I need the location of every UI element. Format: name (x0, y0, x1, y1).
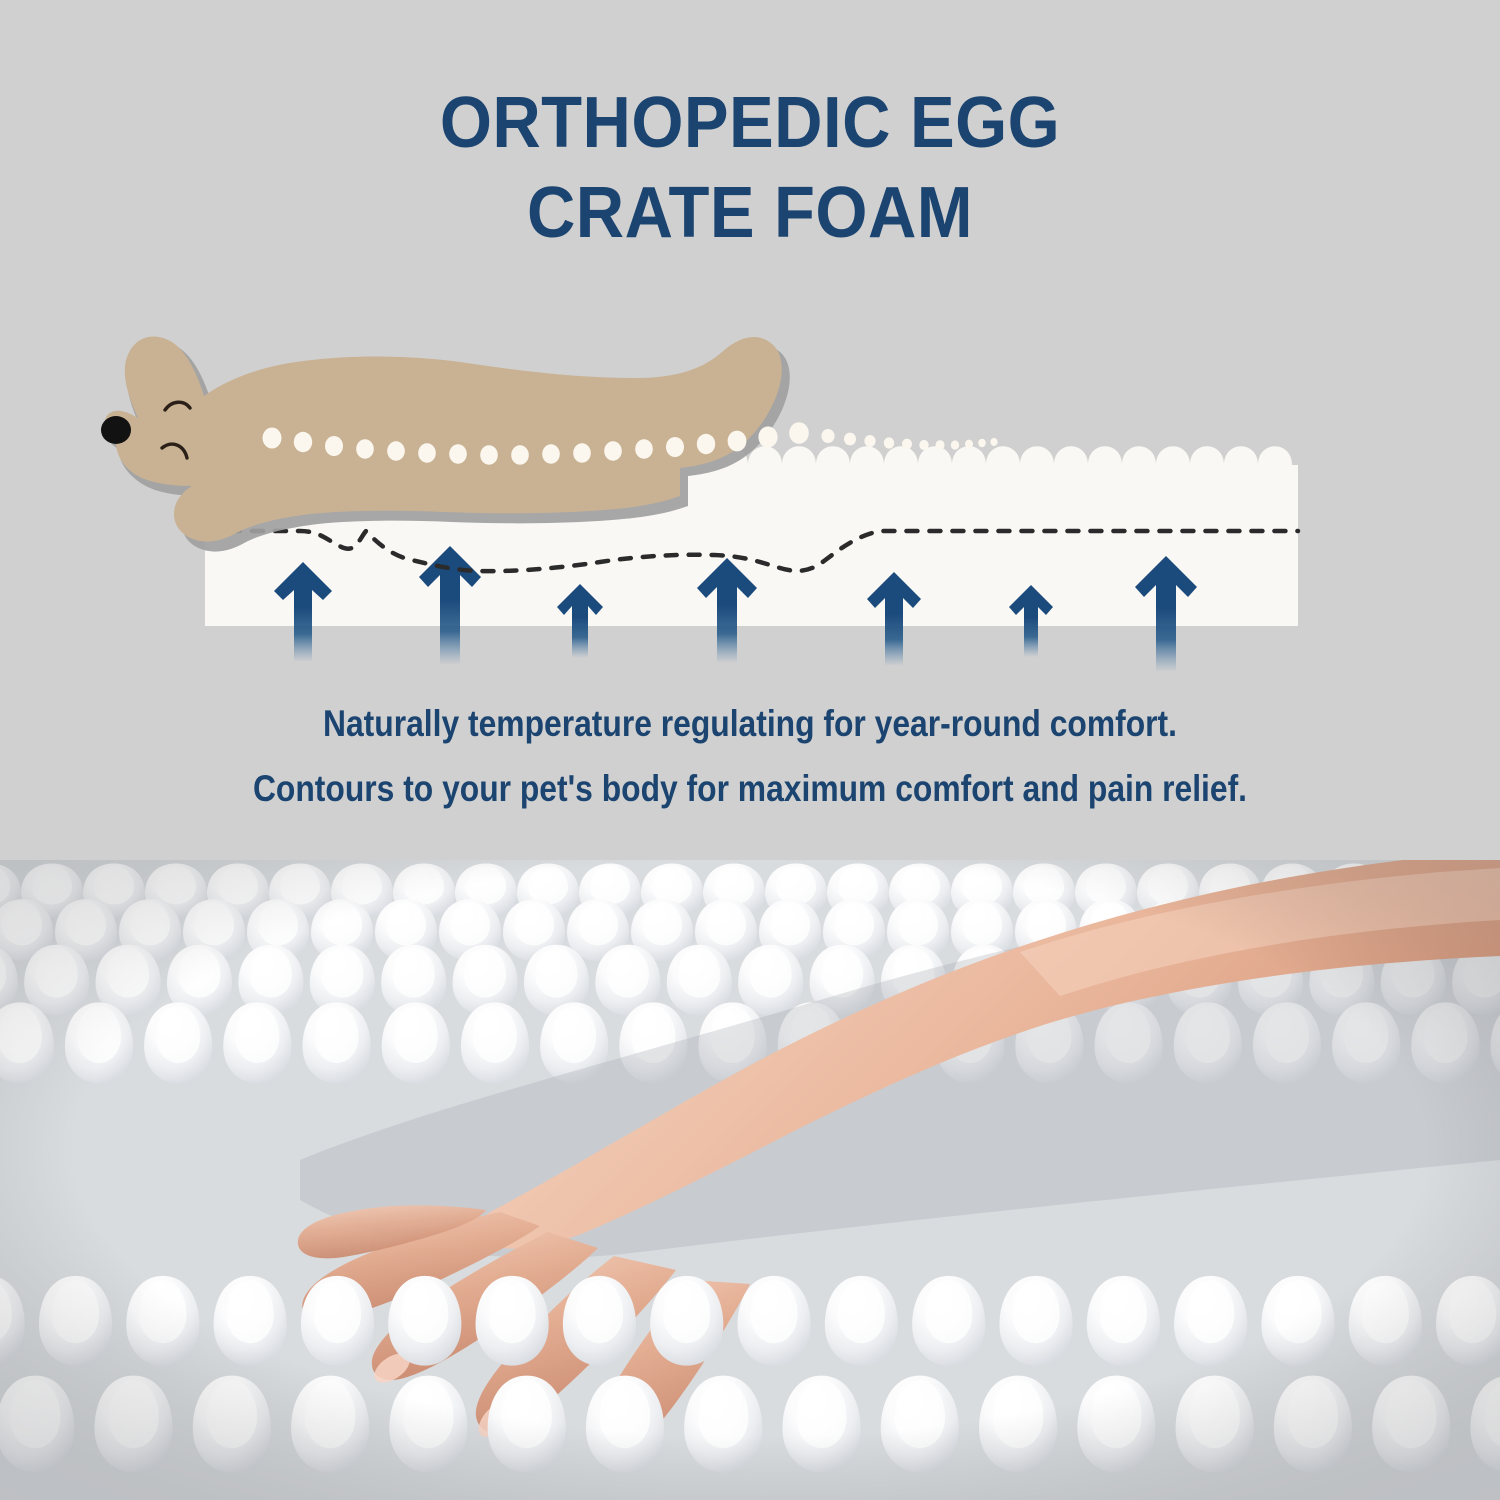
product-feature-graphic: ORTHOPEDIC EGG CRATE FOAM (0, 0, 1500, 1500)
tagline-temperature: Naturally temperature regulating for yea… (105, 703, 1395, 745)
tagline-contour: Contours to your pet's body for maximum … (105, 768, 1395, 810)
top-info-panel: ORTHOPEDIC EGG CRATE FOAM (0, 0, 1500, 860)
page-title: ORTHOPEDIC EGG CRATE FOAM (53, 78, 1448, 258)
foam-cross-section-diagram (0, 300, 1500, 700)
egg-crate-foam-photo (0, 860, 1500, 1500)
dog-nose-icon (101, 416, 131, 444)
